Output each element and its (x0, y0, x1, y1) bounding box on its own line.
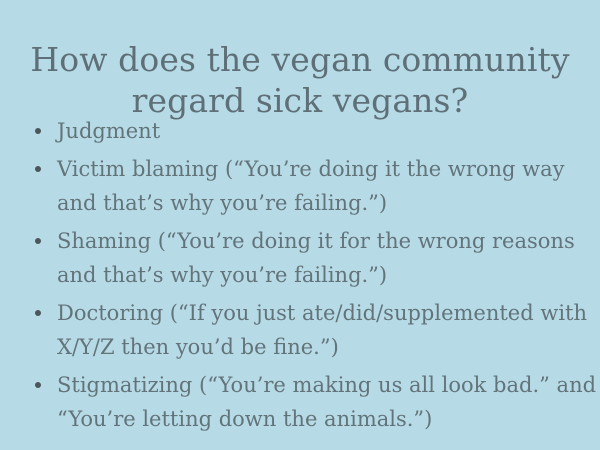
slide-title-line-1: How does the vegan community (24, 39, 576, 80)
list-item-line: Stigmatizing (“You’re making us all look… (57, 368, 582, 402)
list-item: Shaming (“You’re doing it for the wrong … (0, 224, 600, 292)
bullet-point-icon (35, 238, 41, 244)
list-item-line: and that’s why you’re failing.”) (57, 186, 582, 220)
list-item-text: Shaming (“You’re doing it for the wrong … (57, 224, 582, 292)
bullet-point-icon (35, 128, 41, 134)
list-item-line: “You’re letting down the animals.”) (57, 402, 582, 436)
list-item-text: Stigmatizing (“You’re making us all look… (57, 368, 582, 436)
list-item-line: X/Y/Z then you’d be fine.”) (57, 330, 582, 364)
presentation-slide: How does the vegan community regard sick… (0, 0, 600, 450)
list-item: Judgment (0, 114, 600, 148)
list-item: Stigmatizing (“You’re making us all look… (0, 368, 600, 436)
list-item-line: and that’s why you’re failing.”) (57, 258, 582, 292)
list-item: Victim blaming (“You’re doing it the wro… (0, 152, 600, 220)
list-item-line: Shaming (“You’re doing it for the wrong … (57, 224, 582, 258)
list-item-text: Judgment (57, 114, 582, 148)
bullet-point-icon (35, 166, 41, 172)
list-item: Doctoring (“If you just ate/did/suppleme… (0, 296, 600, 364)
bullet-list: Judgment Victim blaming (“You’re doing i… (0, 114, 600, 440)
list-item-line: Doctoring (“If you just ate/did/suppleme… (57, 296, 582, 330)
bullet-point-icon (35, 310, 41, 316)
slide-title: How does the vegan community regard sick… (24, 39, 576, 121)
list-item-text: Victim blaming (“You’re doing it the wro… (57, 152, 582, 220)
list-item-line: Victim blaming (“You’re doing it the wro… (57, 152, 582, 186)
list-item-text: Doctoring (“If you just ate/did/suppleme… (57, 296, 582, 364)
list-item-line: Judgment (57, 114, 582, 148)
bullet-point-icon (35, 382, 41, 388)
